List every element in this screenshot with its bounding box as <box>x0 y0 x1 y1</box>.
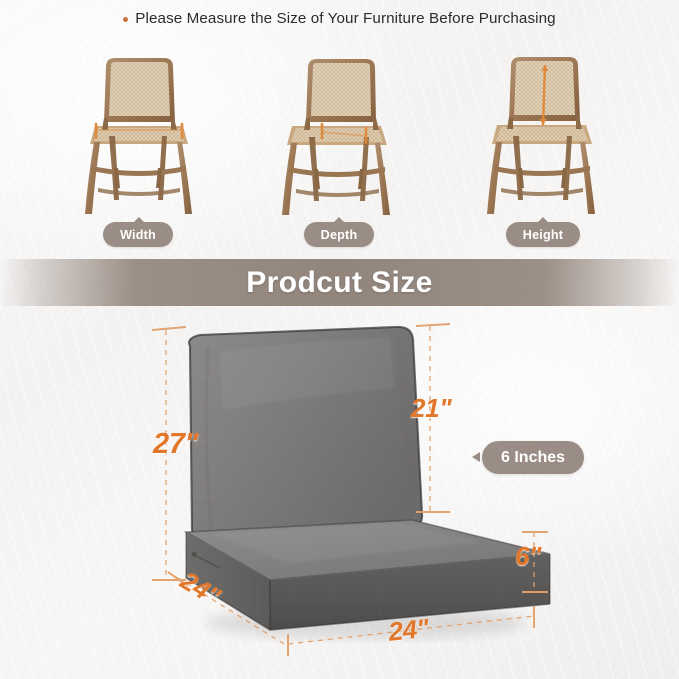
chair-label-width: Width <box>103 222 173 247</box>
chair-label-height: Height <box>506 222 580 247</box>
dimension-overall-height: 27" <box>153 428 198 461</box>
chair-illustration-height <box>482 48 604 220</box>
headline: Please Measure the Size of Your Furnitur… <box>0 10 679 27</box>
bullet-dot-icon <box>123 17 128 22</box>
dimension-back-height: 21" <box>411 393 451 424</box>
product-size-infographic: Please Measure the Size of Your Furnitur… <box>0 0 679 679</box>
chair-illustration-depth <box>278 48 400 220</box>
thickness-callout-badge: 6 Inches <box>482 441 584 474</box>
section-banner: Prodcut Size <box>0 259 679 306</box>
banner-title: Prodcut Size <box>246 266 433 300</box>
dimension-thickness: 6" <box>515 541 541 572</box>
left-caret-icon <box>472 452 480 462</box>
chair-illustration-width <box>78 48 200 220</box>
chair-label-depth: Depth <box>304 222 374 247</box>
dimension-width: 24" <box>387 613 430 648</box>
headline-text: Please Measure the Size of Your Furnitur… <box>135 10 555 27</box>
